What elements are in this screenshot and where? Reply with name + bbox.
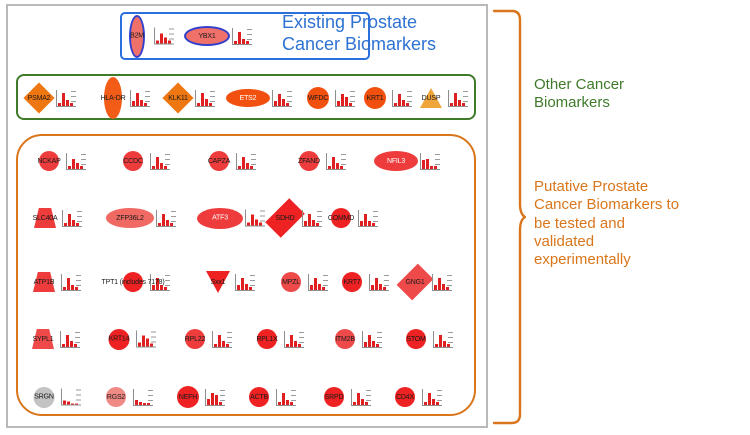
network-node-gng1[interactable]: GNG1 xyxy=(400,267,452,297)
figure-root: B2MYBX1PSMA2HLA-DRKLK11ETS2WFDCKRT1DUSPN… xyxy=(0,0,750,435)
node-label: ATF3 xyxy=(212,215,228,222)
node-barchart-icon xyxy=(149,153,170,170)
network-node-rpl1x[interactable]: RPL1X xyxy=(252,329,304,349)
node-barchart-icon xyxy=(135,331,156,348)
node-barchart-icon xyxy=(391,90,412,107)
node-barchart-icon xyxy=(275,389,296,406)
node-barchart-icon xyxy=(357,210,378,227)
network-node-srgn[interactable]: SRGN xyxy=(29,387,81,408)
node-label: Sxx1 xyxy=(211,279,226,286)
network-node-ybx1[interactable]: YBX1 xyxy=(184,26,252,46)
node-label: KLK11 xyxy=(168,95,188,102)
node-barchart-icon xyxy=(307,274,328,291)
node-label: ACTB xyxy=(250,394,268,401)
network-node-rgs2[interactable]: RGS2 xyxy=(101,387,153,407)
network-node-commd[interactable]: COMMD xyxy=(326,208,378,228)
node-label: SLC40A xyxy=(33,215,58,222)
node-label: MPZL xyxy=(282,279,300,286)
node-label: KRT14 xyxy=(109,336,130,343)
annotation-other-biomarkers: Other Cancer Biomarkers xyxy=(534,76,624,113)
node-label: NCKAP xyxy=(37,158,60,165)
node-label: ZFP36L2 xyxy=(116,215,143,222)
node-label: GNG1 xyxy=(405,279,424,286)
network-node-hla-dr[interactable]: HLA-DR xyxy=(98,77,150,119)
node-barchart-icon xyxy=(61,210,82,227)
network-node-psma2[interactable]: PSMA2 xyxy=(24,87,76,109)
network-node-rpl22[interactable]: RPL22 xyxy=(180,329,232,349)
network-node-sxx1[interactable]: Sxx1 xyxy=(203,271,255,293)
node-barchart-icon xyxy=(283,331,304,348)
network-node-wfdc[interactable]: WFDC xyxy=(303,87,355,109)
annotation-putative-biomarkers: Putative Prostate Cancer Biomarkers to b… xyxy=(534,178,679,269)
network-node-atf3[interactable]: ATF3 xyxy=(197,208,265,229)
node-label: ATP1B xyxy=(34,279,55,286)
node-barchart-icon xyxy=(421,389,442,406)
node-barchart-icon xyxy=(65,153,86,170)
network-node-sdhd[interactable]: SDHD xyxy=(270,201,322,235)
node-barchart-icon xyxy=(59,331,80,348)
node-label: HLA-DR xyxy=(101,95,126,102)
node-label: KRT1 xyxy=(367,95,384,102)
node-barchart-icon xyxy=(301,210,322,227)
node-barchart-icon xyxy=(361,331,382,348)
network-node-zfand[interactable]: ZFAND xyxy=(294,151,346,171)
node-barchart-icon xyxy=(350,389,371,406)
node-barchart-icon xyxy=(153,28,174,45)
node-barchart-icon xyxy=(155,210,176,227)
node-label: B2M xyxy=(130,33,144,40)
node-barchart-icon xyxy=(432,331,453,348)
network-node-capza[interactable]: CAPZA xyxy=(204,151,256,171)
node-barchart-icon xyxy=(231,28,252,45)
node-label: ITM2B xyxy=(335,336,355,343)
node-barchart-icon xyxy=(419,153,440,170)
node-barchart-icon xyxy=(194,90,215,107)
node-label: WFDC xyxy=(308,95,328,102)
network-panel: B2MYBX1PSMA2HLA-DRKLK11ETS2WFDCKRT1DUSPN… xyxy=(6,4,488,428)
network-node-srpd[interactable]: SRPD xyxy=(319,387,371,407)
node-barchart-icon xyxy=(271,90,292,107)
node-label: COMMD xyxy=(328,215,354,222)
node-label: KRT7 xyxy=(344,279,361,286)
node-label: RGS2 xyxy=(107,394,125,401)
network-node-b2m[interactable]: B2M xyxy=(122,15,174,58)
node-label: RPL1X xyxy=(256,336,277,343)
node-barchart-icon xyxy=(244,210,265,227)
node-label: SRGN xyxy=(34,394,53,401)
node-barchart-icon xyxy=(368,274,389,291)
node-label: ZFAND xyxy=(298,158,320,165)
node-barchart-icon xyxy=(234,274,255,291)
network-node-actb[interactable]: ACTB xyxy=(244,387,296,407)
network-node-zfp36l2[interactable]: ZFP36L2 xyxy=(106,208,176,228)
network-node-itm2b[interactable]: ITM2B xyxy=(330,329,382,349)
node-label: STOM xyxy=(406,336,425,343)
node-barchart-icon xyxy=(447,90,468,107)
node-label: RPL22 xyxy=(185,336,205,343)
network-node-tpt1-includes-7178[interactable]: TPT1 (includes 7178) xyxy=(118,272,170,292)
node-label: CD4X xyxy=(396,394,414,401)
node-barchart-icon xyxy=(211,331,232,348)
node-barchart-icon xyxy=(132,389,153,406)
node-barchart-icon xyxy=(235,153,256,170)
node-label: NEFH xyxy=(179,394,197,401)
node-label: DUSP xyxy=(422,95,441,102)
network-node-nfil3[interactable]: NFIL3 xyxy=(374,151,440,171)
network-node-ets2[interactable]: ETS2 xyxy=(226,88,292,108)
node-label: TPT1 (includes 7178) xyxy=(102,279,165,286)
node-label: SYPL1 xyxy=(33,336,54,343)
network-node-krt1[interactable]: KRT1 xyxy=(360,87,412,109)
curly-brace-icon xyxy=(492,8,526,426)
network-node-cd4x[interactable]: CD4X xyxy=(390,387,442,407)
network-node-krt7[interactable]: KRT7 xyxy=(337,272,389,292)
network-node-stom[interactable]: STOM xyxy=(401,329,453,349)
node-barchart-icon xyxy=(431,274,452,291)
node-label: SRPD xyxy=(325,394,344,401)
network-node-sypl1[interactable]: SYPL1 xyxy=(28,329,80,349)
node-barchart-icon xyxy=(129,90,150,107)
node-label: SDHD xyxy=(275,215,294,222)
node-barchart-icon xyxy=(60,389,81,406)
network-node-ccdc[interactable]: CCDC xyxy=(118,151,170,171)
network-node-krt14[interactable]: KRT14 xyxy=(104,329,156,350)
node-barchart-icon xyxy=(334,90,355,107)
node-label: NFIL3 xyxy=(387,158,405,165)
annotation-existing-biomarkers: Existing Prostate Cancer Biomarkers xyxy=(282,12,436,56)
network-node-klk11[interactable]: KLK11 xyxy=(163,87,215,109)
network-node-dusp[interactable]: DUSP xyxy=(416,88,468,108)
node-barchart-icon xyxy=(60,274,81,291)
node-barchart-icon xyxy=(55,90,76,107)
network-node-nckap[interactable]: NCKAP xyxy=(34,151,86,171)
network-node-mpzl[interactable]: MPZL xyxy=(276,272,328,292)
network-node-nefh[interactable]: NEFH xyxy=(173,386,225,408)
node-label: YBX1 xyxy=(198,33,215,40)
node-label: CAPZA xyxy=(208,158,230,165)
node-label: ETS2 xyxy=(240,95,257,102)
node-label: CCDC xyxy=(123,158,142,165)
node-barchart-icon xyxy=(325,153,346,170)
network-node-atp1b[interactable]: ATP1B xyxy=(29,272,81,292)
node-label: PSMA2 xyxy=(28,95,51,102)
node-barchart-icon xyxy=(204,389,225,406)
network-node-slc40a[interactable]: SLC40A xyxy=(30,208,82,228)
